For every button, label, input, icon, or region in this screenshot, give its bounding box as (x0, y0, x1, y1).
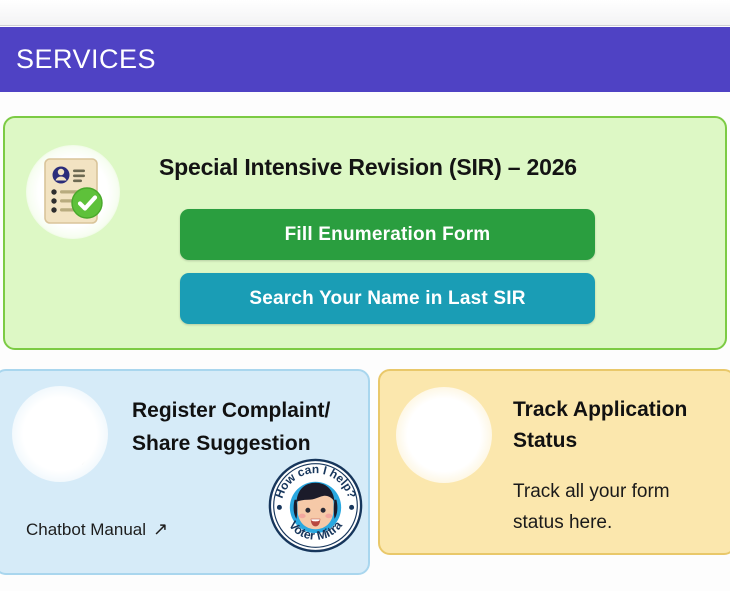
page-title: SERVICES (0, 44, 156, 75)
fill-enumeration-form-button[interactable]: Fill Enumeration Form (180, 209, 595, 260)
track-application-status-card[interactable]: Track Application Status Track all your … (378, 369, 730, 555)
top-browser-strip (0, 0, 730, 26)
sir-card: Special Intensive Revision (SIR) – 2026 … (3, 116, 727, 350)
track-title-line-1: Track Application (513, 394, 728, 425)
sir-card-icon (26, 145, 120, 239)
icon-halo (12, 386, 108, 482)
chatbot-manual-link[interactable]: Chatbot Manual ↗ (26, 520, 168, 540)
chatbot-manual-label: Chatbot Manual (26, 520, 146, 540)
sir-card-title: Special Intensive Revision (SIR) – 2026 (159, 154, 577, 181)
external-link-arrow-icon: ↗ (153, 520, 168, 538)
icon-halo (396, 387, 492, 483)
track-card-icon (396, 387, 492, 483)
complaint-card-icon (12, 386, 108, 482)
track-title-line-2: Status (513, 425, 728, 456)
complaint-title-line-2: Share Suggestion (132, 427, 368, 460)
search-name-last-sir-button[interactable]: Search Your Name in Last SIR (180, 273, 595, 324)
voter-mitra-chatbot-avatar-icon: How can I help? Voter Mitra (268, 458, 363, 553)
track-card-title: Track Application Status (513, 394, 728, 456)
voter-form-verified-icon (42, 157, 104, 227)
services-header-bar: SERVICES (0, 27, 730, 92)
services-page: SERVICES Special I (0, 0, 730, 591)
track-card-description: Track all your form status here. (513, 476, 718, 538)
complaint-card-title: Register Complaint/ Share Suggestion (132, 394, 368, 460)
complaint-title-line-1: Register Complaint/ (132, 394, 368, 427)
voter-mitra-chatbot-button[interactable]: How can I help? Voter Mitra (268, 458, 363, 553)
